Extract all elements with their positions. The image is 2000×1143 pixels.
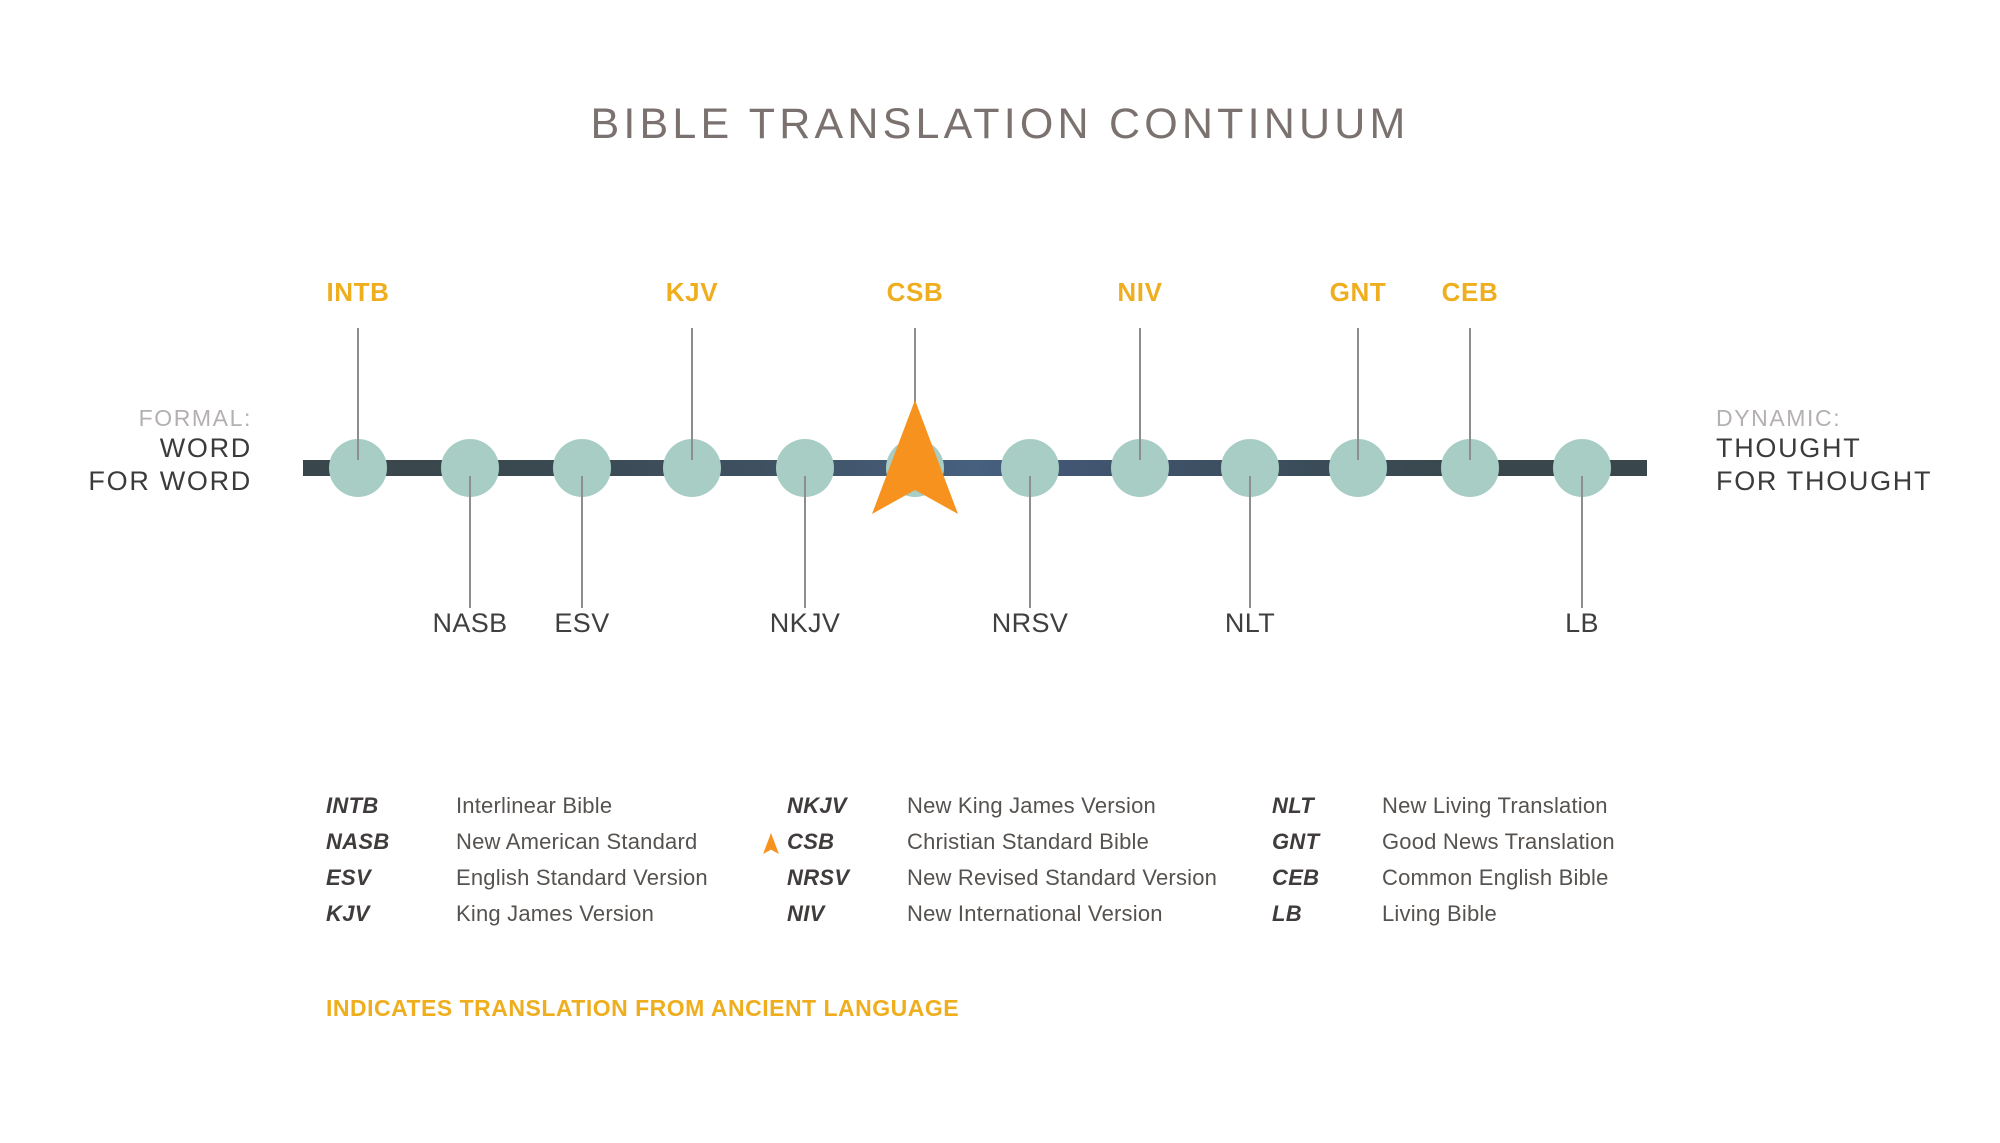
axis-dynamic-kicker: DYNAMIC: <box>1716 404 1932 432</box>
legend-row: CSBChristian Standard Bible <box>787 829 1217 865</box>
legend-row: NLTNew Living Translation <box>1272 793 1615 829</box>
infographic-canvas: BIBLE TRANSLATION CONTINUUM FORMAL: WORD… <box>0 0 2000 1143</box>
axis-dynamic-line1: THOUGHT <box>1716 432 1932 465</box>
legend-description: Interlinear Bible <box>456 793 612 819</box>
legend-column-3: NLTNew Living TranslationGNTGood News Tr… <box>1272 793 1615 937</box>
axis-dynamic-line2: FOR THOUGHT <box>1716 465 1932 498</box>
legend-row: NIVNew International Version <box>787 901 1217 937</box>
node-label-nkjv[interactable]: NKJV <box>770 608 841 639</box>
node-label-ceb[interactable]: CEB <box>1442 277 1499 308</box>
legend-row: NRSVNew Revised Standard Version <box>787 865 1217 901</box>
connector-line-gnt <box>1357 328 1359 460</box>
node-label-gnt[interactable]: GNT <box>1330 277 1387 308</box>
axis-formal-kicker: FORMAL: <box>88 404 252 432</box>
legend-abbreviation: CSB <box>787 829 907 855</box>
legend-description: New International Version <box>907 901 1163 927</box>
legend-column-2: NKJVNew King James VersionCSBChristian S… <box>787 793 1217 937</box>
legend-column-1: INTBInterlinear BibleNASBNew American St… <box>326 793 708 937</box>
legend-description: Christian Standard Bible <box>907 829 1149 855</box>
legend-row: CEBCommon English Bible <box>1272 865 1615 901</box>
connector-line-esv <box>581 476 583 608</box>
node-label-nlt[interactable]: NLT <box>1225 608 1275 639</box>
node-label-csb[interactable]: CSB <box>887 277 944 308</box>
node-label-kjv[interactable]: KJV <box>666 277 718 308</box>
connector-line-kjv <box>691 328 693 460</box>
legend-description: King James Version <box>456 901 654 927</box>
legend-row: INTBInterlinear Bible <box>326 793 708 829</box>
ancient-language-arrow-icon <box>872 400 958 514</box>
legend-description: Common English Bible <box>1382 865 1609 891</box>
connector-line-ceb <box>1469 328 1471 460</box>
ancient-language-arrow-icon <box>763 833 779 853</box>
node-label-nrsv[interactable]: NRSV <box>992 608 1069 639</box>
node-label-intb[interactable]: INTB <box>326 277 389 308</box>
legend-description: Living Bible <box>1382 901 1497 927</box>
legend-row: KJVKing James Version <box>326 901 708 937</box>
axis-label-dynamic: DYNAMIC: THOUGHT FOR THOUGHT <box>1716 404 1932 498</box>
legend-abbreviation: NLT <box>1272 793 1382 819</box>
axis-formal-line1: WORD <box>88 432 252 465</box>
connector-line-nrsv <box>1029 476 1031 608</box>
connector-line-lb <box>1581 476 1583 608</box>
legend-row: NKJVNew King James Version <box>787 793 1217 829</box>
legend-abbreviation: NIV <box>787 901 907 927</box>
axis-label-formal: FORMAL: WORD FOR WORD <box>88 404 252 498</box>
legend-row: GNTGood News Translation <box>1272 829 1615 865</box>
legend-description: New Living Translation <box>1382 793 1608 819</box>
axis-formal-line2: FOR WORD <box>88 465 252 498</box>
node-label-lb[interactable]: LB <box>1565 608 1599 639</box>
legend-abbreviation: NASB <box>326 829 456 855</box>
footnote-ancient-language: INDICATES TRANSLATION FROM ANCIENT LANGU… <box>326 995 959 1022</box>
legend-abbreviation: ESV <box>326 865 456 891</box>
legend-row: ESVEnglish Standard Version <box>326 865 708 901</box>
legend-description: English Standard Version <box>456 865 708 891</box>
connector-line-intb <box>357 328 359 460</box>
node-label-nasb[interactable]: NASB <box>432 608 507 639</box>
legend-abbreviation: NRSV <box>787 865 907 891</box>
legend-description: New American Standard <box>456 829 697 855</box>
legend-abbreviation: GNT <box>1272 829 1382 855</box>
node-label-esv[interactable]: ESV <box>554 608 609 639</box>
legend-abbreviation: CEB <box>1272 865 1382 891</box>
connector-line-nlt <box>1249 476 1251 608</box>
legend-abbreviation: INTB <box>326 793 456 819</box>
connector-line-nasb <box>469 476 471 608</box>
legend-row: NASBNew American Standard <box>326 829 708 865</box>
legend-abbreviation: LB <box>1272 901 1382 927</box>
page-title: BIBLE TRANSLATION CONTINUUM <box>0 100 2000 149</box>
legend-row: LBLiving Bible <box>1272 901 1615 937</box>
node-label-niv[interactable]: NIV <box>1117 277 1162 308</box>
connector-line-nkjv <box>804 476 806 608</box>
legend-abbreviation: NKJV <box>787 793 907 819</box>
legend-description: Good News Translation <box>1382 829 1615 855</box>
legend-description: New King James Version <box>907 793 1156 819</box>
legend-description: New Revised Standard Version <box>907 865 1217 891</box>
connector-line-niv <box>1139 328 1141 460</box>
legend-abbreviation: KJV <box>326 901 456 927</box>
